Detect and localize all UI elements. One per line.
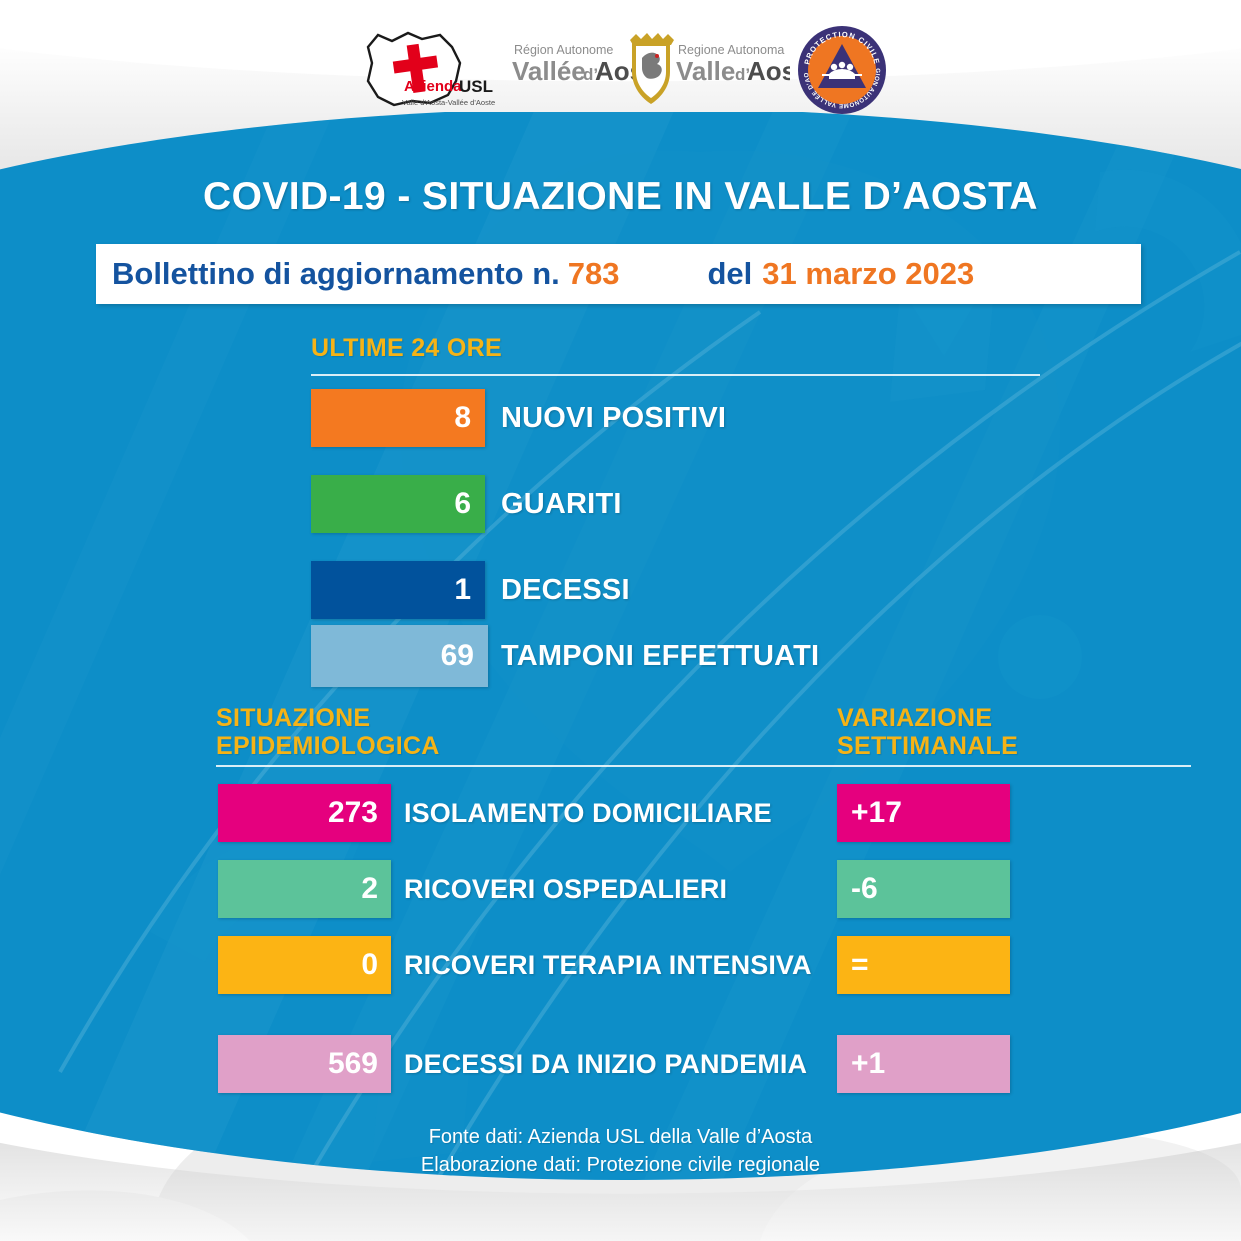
page-title: COVID-19 - SITUAZIONE IN VALLE D’AOSTA — [0, 175, 1241, 219]
row-isolamento-domiciliare: 273 ISOLAMENTO DOMICILIARE +17 — [218, 784, 1018, 842]
value-nuovi-positivi: 8 — [454, 401, 471, 435]
bar-decessi-da-inizio-pandemia: 569 — [218, 1035, 391, 1093]
protezione-civile-logo: PROTECTION CIVILE REGION AUTONOME VALLÉE… — [796, 24, 888, 116]
bulletin-bar: Bollettino di aggiornamento n. 783 del 3… — [96, 244, 1141, 304]
bulletin-number: 783 — [568, 256, 620, 292]
label-ricoveri-terapia-intensiva: RICOVERI TERAPIA INTENSIVA — [404, 936, 812, 994]
footer-source-line: Fonte dati: Azienda USL della Valle d’Ao… — [0, 1124, 1241, 1152]
label-decessi: DECESSI — [501, 561, 630, 619]
bar-tamponi-effettuati: 69 — [311, 625, 488, 687]
bulletin-date: 31 marzo 2023 — [762, 256, 974, 292]
bar-guariti: 6 — [311, 475, 485, 533]
regione-autonoma-valle-daosta-logo: Région Autonome Vallée d’ Aoste Regione … — [500, 30, 790, 108]
svg-text:Valle: Valle — [676, 56, 735, 86]
footer: Fonte dati: Azienda USL della Valle d’Ao… — [0, 1124, 1241, 1179]
section-heading-variation: VARIAZIONE SETTIMANALE — [837, 704, 1018, 760]
variation-bar-ricoveri-terapia-intensiva: = — [837, 936, 1010, 994]
svg-text:USL: USL — [459, 77, 493, 96]
infographic-page: Azienda USL Valle d’Aosta-Vallée d’Aoste… — [0, 0, 1241, 1241]
label-guariti: GUARITI — [501, 475, 622, 533]
svg-text:Regione Autonoma: Regione Autonoma — [678, 43, 784, 57]
value-tamponi-effettuati: 69 — [441, 639, 474, 673]
divider-last24 — [311, 374, 1040, 376]
section-heading-last24: ULTIME 24 ORE — [311, 334, 502, 362]
variation-decessi-da-inizio-pandemia: +1 — [851, 1047, 885, 1081]
svg-text:Valle d’Aosta-Vallée d’Aoste: Valle d’Aosta-Vallée d’Aoste — [402, 98, 495, 107]
value-ricoveri-ospedalieri: 2 — [361, 872, 378, 906]
divider-epidemiological — [216, 765, 1191, 767]
svg-text:Aosta: Aosta — [747, 56, 790, 86]
value-ricoveri-terapia-intensiva: 0 — [361, 948, 378, 982]
label-decessi-da-inizio-pandemia: DECESSI DA INIZIO PANDEMIA — [404, 1035, 807, 1093]
variation-ricoveri-ospedalieri: -6 — [851, 872, 878, 906]
svg-text:Vallée: Vallée — [512, 56, 586, 86]
label-tamponi-effettuati: TAMPONI EFFETTUATI — [501, 625, 819, 687]
bar-decessi: 1 — [311, 561, 485, 619]
bar-ricoveri-terapia-intensiva: 0 — [218, 936, 391, 994]
section-heading-epidemiological: SITUAZIONE EPIDEMIOLOGICA — [216, 704, 440, 760]
row-decessi: 1 DECESSI — [311, 561, 1071, 619]
row-guariti: 6 GUARITI — [311, 475, 1071, 533]
row-ricoveri-ospedalieri: 2 RICOVERI OSPEDALIERI -6 — [218, 860, 1018, 918]
row-decessi-da-inizio-pandemia: 569 DECESSI DA INIZIO PANDEMIA +1 — [218, 1035, 1018, 1093]
value-isolamento-domiciliare: 273 — [328, 796, 378, 830]
logo-strip: Azienda USL Valle d’Aosta-Vallée d’Aoste… — [0, 0, 1241, 128]
bulletin-label: Bollettino di aggiornamento n. — [112, 256, 560, 292]
variation-isolamento-domiciliare: +17 — [851, 796, 902, 830]
bulletin-del: del — [708, 256, 753, 292]
footer-elaboration-line: Elaborazione dati: Protezione civile reg… — [0, 1152, 1241, 1180]
variation-bar-decessi-da-inizio-pandemia: +1 — [837, 1035, 1010, 1093]
bar-ricoveri-ospedalieri: 2 — [218, 860, 391, 918]
label-ricoveri-ospedalieri: RICOVERI OSPEDALIERI — [404, 860, 727, 918]
bar-nuovi-positivi: 8 — [311, 389, 485, 447]
row-tamponi-effettuati: 69 TAMPONI EFFETTUATI — [311, 625, 1071, 687]
label-nuovi-positivi: NUOVI POSITIVI — [501, 389, 726, 447]
value-decessi-da-inizio-pandemia: 569 — [328, 1047, 378, 1081]
svg-text:Azienda: Azienda — [404, 78, 462, 95]
variation-bar-isolamento-domiciliare: +17 — [837, 784, 1010, 842]
value-guariti: 6 — [454, 487, 471, 521]
bar-isolamento-domiciliare: 273 — [218, 784, 391, 842]
azienda-usl-logo: Azienda USL Valle d’Aosta-Vallée d’Aoste — [356, 25, 496, 117]
variation-ricoveri-terapia-intensiva: = — [851, 948, 869, 982]
row-nuovi-positivi: 8 NUOVI POSITIVI — [311, 389, 1071, 447]
svg-text:Région Autonome: Région Autonome — [514, 43, 613, 57]
label-isolamento-domiciliare: ISOLAMENTO DOMICILIARE — [404, 784, 772, 842]
content-layer: COVID-19 - SITUAZIONE IN VALLE D’AOSTA B… — [0, 112, 1241, 1184]
value-decessi: 1 — [454, 573, 471, 607]
variation-bar-ricoveri-ospedalieri: -6 — [837, 860, 1010, 918]
row-ricoveri-terapia-intensiva: 0 RICOVERI TERAPIA INTENSIVA = — [218, 936, 1018, 994]
